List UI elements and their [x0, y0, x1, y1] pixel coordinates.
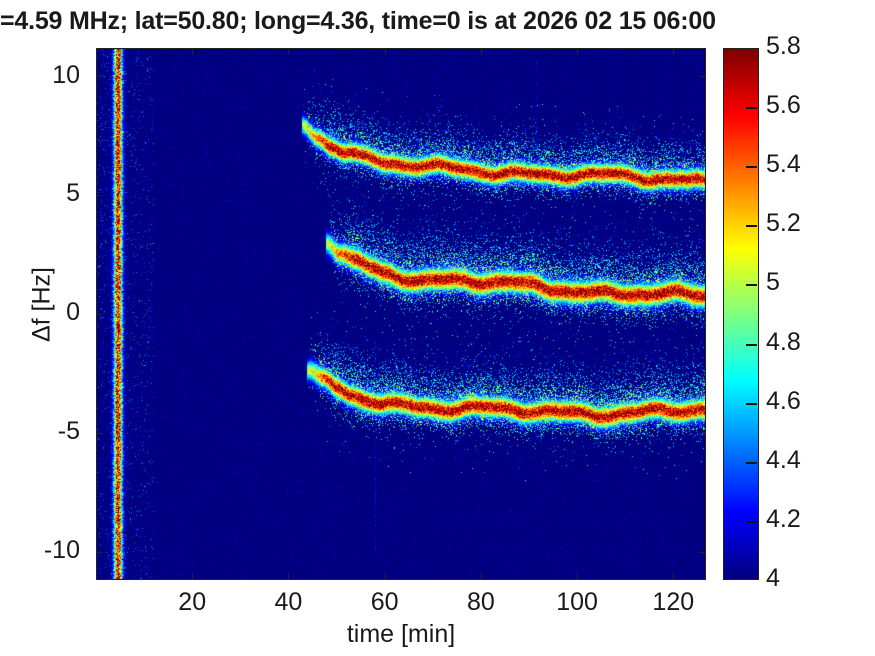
figure-title: =4.59 MHz; lat=50.80; long=4.36, time=0 …	[0, 4, 800, 38]
spectrogram-plot-area	[96, 48, 706, 580]
x-tick-label: 120	[638, 588, 708, 617]
y-tick-label: 5	[8, 179, 80, 208]
colorbar-tick-label: 5.4	[766, 150, 801, 179]
colorbar-tick-label: 4	[766, 564, 780, 593]
x-tick-label: 20	[157, 588, 227, 617]
y-axis-label: Δf [Hz]	[28, 215, 57, 395]
colorbar-tick-mark	[746, 284, 757, 286]
x-tick-label: 60	[350, 588, 420, 617]
colorbar-tick-label: 4.6	[766, 387, 801, 416]
x-tick-label: 100	[542, 588, 612, 617]
colorbar	[723, 48, 759, 580]
colorbar-tick-label: 5.2	[766, 209, 801, 238]
colorbar-tick-mark	[746, 225, 757, 227]
colorbar-gradient	[724, 49, 758, 579]
colorbar-tick-label: 4.2	[766, 505, 801, 534]
colorbar-tick-label: 4.8	[766, 328, 801, 357]
x-tick-label: 80	[446, 588, 516, 617]
spectrogram-canvas	[96, 48, 706, 580]
colorbar-tick-label: 4.4	[766, 446, 801, 475]
colorbar-tick-mark	[746, 403, 757, 405]
colorbar-tick-mark	[746, 344, 757, 346]
colorbar-tick-label: 5	[766, 268, 780, 297]
colorbar-tick-mark	[746, 462, 757, 464]
x-axis-label: time [min]	[96, 620, 706, 649]
colorbar-tick-mark	[746, 166, 757, 168]
colorbar-tick-mark	[746, 107, 757, 109]
y-tick-label: -10	[8, 536, 80, 565]
colorbar-tick-label: 5.6	[766, 91, 801, 120]
y-tick-label: -5	[8, 417, 80, 446]
x-tick-label: 40	[253, 588, 323, 617]
colorbar-tick-label: 5.8	[766, 32, 801, 61]
y-tick-label: 10	[8, 61, 80, 90]
colorbar-tick-mark	[746, 521, 757, 523]
